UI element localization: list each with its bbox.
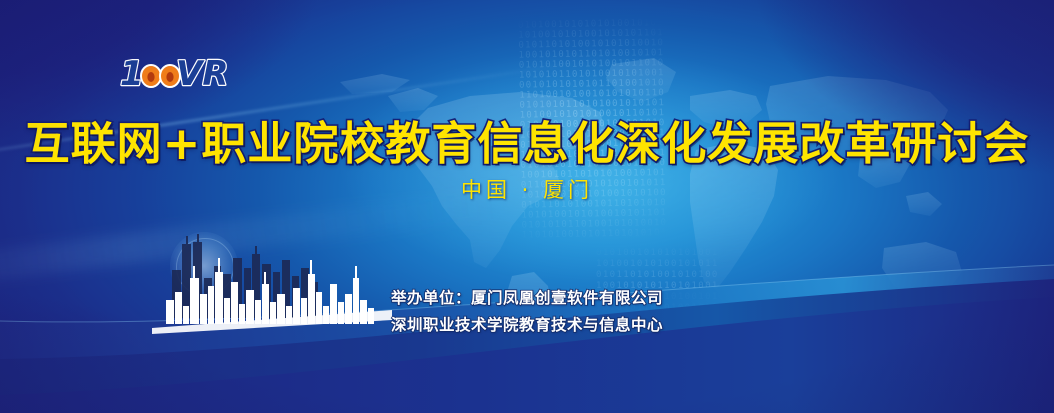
logo-100vr[interactable]: 1 1 VR VR <box>120 52 220 98</box>
organizer-line-2: 深圳职业技术学院教育技术与信息中心 <box>0 313 1054 338</box>
event-banner: 0101001010101010010101 10100101010010101… <box>0 0 1054 413</box>
organizer-block: 举办单位：厦门凤凰创壹软件有限公司 深圳职业技术学院教育技术与信息中心 <box>0 286 1054 338</box>
organizer-line-1: 举办单位：厦门凤凰创壹软件有限公司 <box>0 286 1054 311</box>
banner-subtitle-location: 中国 · 厦门 <box>0 176 1054 204</box>
svg-text:VR: VR <box>176 54 229 94</box>
banner-title: 互联网+职业院校教育信息化深化发展改革研讨会 <box>0 118 1054 170</box>
svg-text:1: 1 <box>120 54 144 94</box>
